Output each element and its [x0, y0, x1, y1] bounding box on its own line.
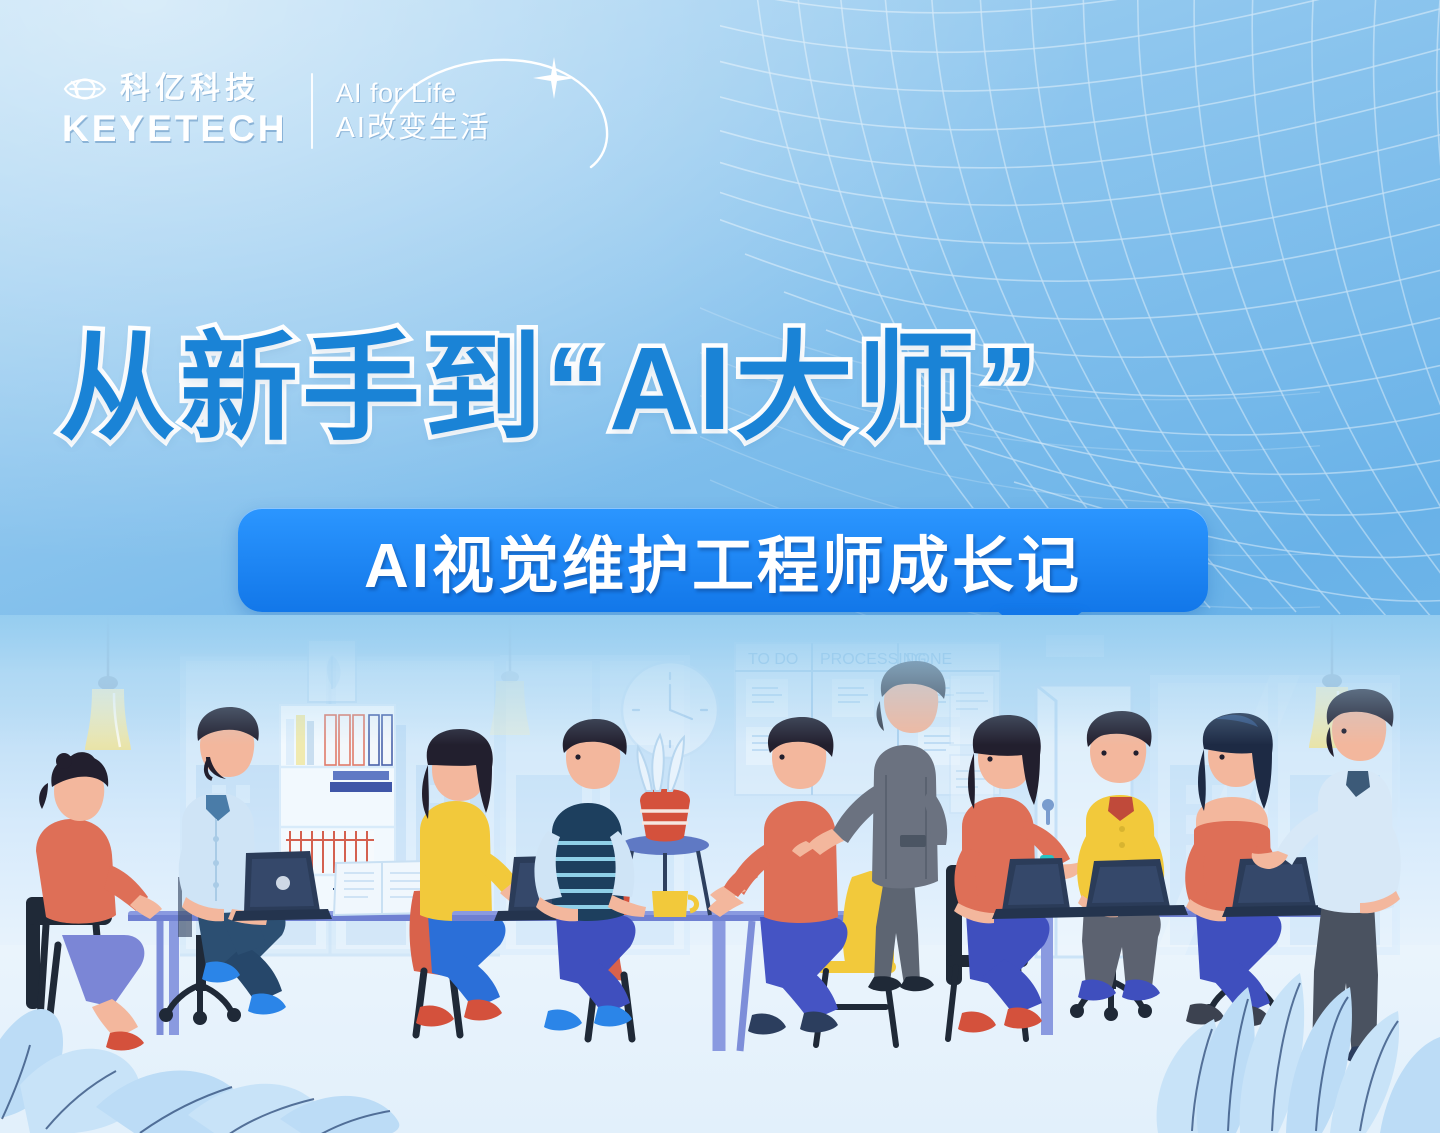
subtitle-banner: AI视觉维护工程师成长记 — [238, 508, 1208, 612]
brand-tagline-block: AI for Life AI改变生活 — [335, 77, 490, 146]
brand-logo: 科亿科技 KEYETECH AI for Life AI改变生活 — [62, 72, 491, 150]
brand-logo-left: 科亿科技 KEYETECH — [62, 72, 287, 150]
page-headline: 从新手到“AI大师” — [58, 326, 1388, 452]
tagline-cn: AI改变生活 — [335, 110, 490, 146]
office-illustration: TO DO PROCESSING DONE — [0, 615, 1440, 1133]
tagline-en: AI for Life — [335, 77, 490, 110]
framed-picture — [308, 640, 356, 702]
brand-name-row: 科亿科技 — [62, 72, 287, 106]
kanban-column-todo: TO DO — [748, 651, 798, 668]
eye-icon — [62, 72, 108, 106]
wall-clock — [622, 662, 718, 758]
subtitle-banner-wrap: AI视觉维护工程师成长记 — [238, 508, 1208, 612]
subtitle-text: AI视觉维护工程师成长记 — [364, 515, 1082, 605]
logo-divider — [311, 73, 313, 149]
brand-name-cn: 科亿科技 — [120, 72, 260, 106]
poster-canvas: 科亿科技 KEYETECH AI for Life AI改变生活 从新手到“AI… — [0, 0, 1440, 1133]
brand-name-en: KEYETECH — [62, 108, 287, 150]
